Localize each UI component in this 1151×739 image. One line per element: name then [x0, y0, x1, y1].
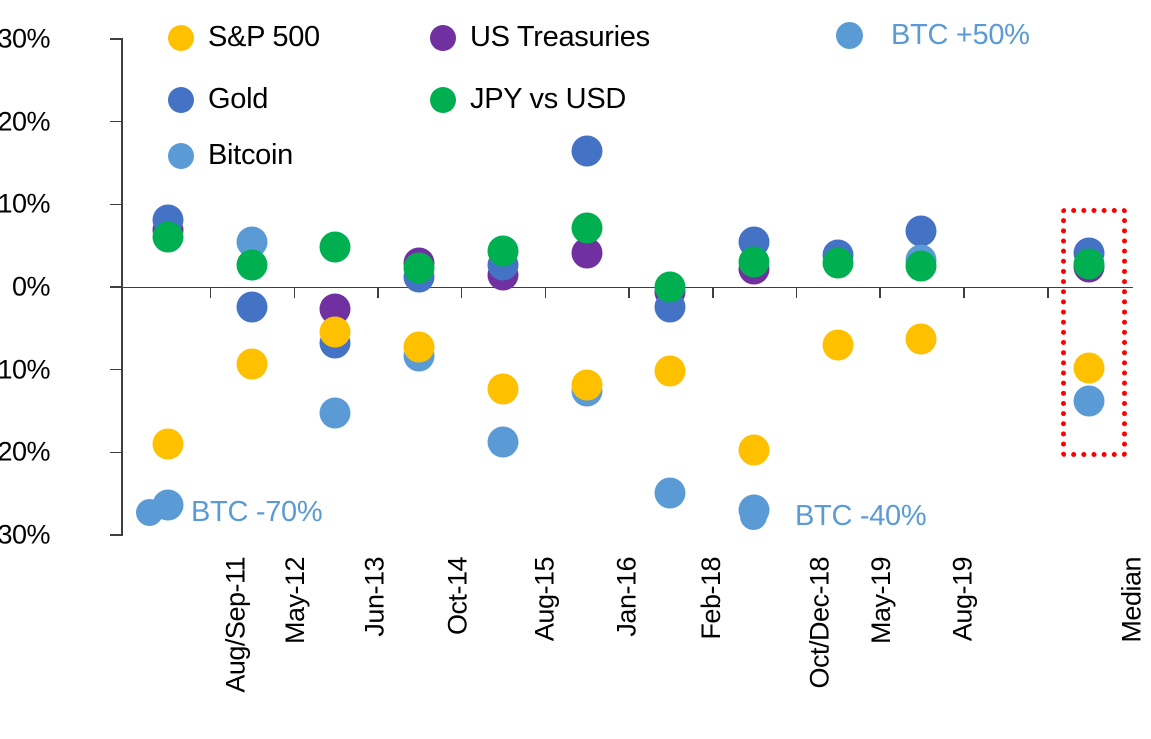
legend-label: S&P 500: [208, 21, 320, 54]
legend-marker-dot: [168, 87, 194, 113]
data-point: [906, 251, 937, 282]
legend-label: Bitcoin: [208, 139, 293, 172]
legend-marker-dot: [168, 25, 194, 51]
y-axis-tick: [110, 534, 121, 536]
x-axis-tick: [461, 287, 463, 298]
x-axis-category-label-text: Aug-15: [529, 557, 560, 641]
y-axis-tick-label: -30%: [0, 520, 50, 551]
x-axis-category-label-text: May-12: [280, 557, 311, 644]
data-point: [404, 252, 435, 283]
data-point: [571, 370, 602, 401]
btc-down-40-label: BTC -40%: [795, 500, 926, 533]
x-axis-tick: [628, 287, 630, 298]
x-axis-tick: [377, 287, 379, 298]
btc-up-50-label: BTC +50%: [891, 19, 1030, 52]
data-point: [655, 477, 686, 508]
legend-label: Gold: [208, 83, 268, 116]
x-axis-category-label: Aug/Sep-11: [236, 421, 267, 557]
y-axis-tick-label: 0%: [12, 272, 50, 303]
data-point: [320, 397, 351, 428]
data-point: [1074, 386, 1105, 417]
data-point: [571, 213, 602, 244]
data-point: [320, 232, 351, 263]
x-axis-tick: [294, 287, 296, 298]
data-point: [906, 215, 937, 246]
x-axis-category-label-text: Jun-13: [360, 557, 391, 637]
x-axis-category-label-text: Oct-14: [443, 557, 474, 635]
x-axis-category-label-text: Aug/Sep-11: [220, 557, 251, 693]
y-axis-tick-label: -20%: [0, 437, 50, 468]
x-axis-tick: [210, 287, 212, 298]
data-point: [153, 222, 184, 253]
y-axis-tick: [110, 121, 121, 123]
data-point: [487, 235, 518, 266]
data-point: [1074, 353, 1105, 384]
x-axis-tick: [545, 287, 547, 298]
x-axis-category-label: Oct/Dec-18: [820, 425, 851, 557]
data-point: [320, 317, 351, 348]
btc-down-70-label: BTC -70%: [191, 496, 322, 529]
x-axis-category-label: Aug-19: [963, 473, 994, 557]
legend-item-bitcoin[interactable]: Bitcoin: [168, 139, 293, 172]
data-point: [236, 250, 267, 281]
x-axis-tick: [796, 287, 798, 298]
y-axis-tick-label: 10%: [0, 189, 50, 220]
x-axis-category-label: Oct-14: [458, 479, 489, 557]
y-axis-tick: [110, 452, 121, 454]
x-axis-category-label-text: Jan-16: [611, 557, 642, 637]
x-axis-tick: [963, 287, 965, 298]
x-axis-category-label-text: Oct/Dec-18: [804, 557, 835, 689]
data-point: [738, 247, 769, 278]
data-point: [822, 329, 853, 360]
x-axis-tick: [879, 287, 881, 298]
data-point: [655, 272, 686, 303]
y-axis-tick-label: -10%: [0, 354, 50, 385]
x-axis-tick: [1047, 287, 1049, 298]
x-axis-category-label-text: Median: [1116, 557, 1147, 643]
y-axis-tick: [110, 38, 121, 40]
data-point: [236, 291, 267, 322]
x-axis-category-label: Feb-18: [711, 474, 742, 557]
data-point: [404, 331, 435, 362]
data-point: [738, 495, 769, 526]
y-axis-tick: [110, 286, 121, 288]
legend-marker-dot: [430, 25, 456, 51]
data-point: [571, 135, 602, 166]
y-axis-tick: [110, 369, 121, 371]
btc-up-50-dot: [836, 22, 863, 49]
x-axis-tick: [712, 287, 714, 298]
data-point: [822, 248, 853, 279]
chart-canvas: 30%20%10%0%-10%-20%-30% Aug/Sep-11May-12…: [0, 0, 1151, 739]
legend-item-s-p-500[interactable]: S&P 500: [168, 21, 320, 54]
legend-item-us-treasuries[interactable]: US Treasuries: [430, 21, 650, 54]
x-axis-category-label: Jun-13: [375, 477, 406, 557]
x-axis-zero-line: [121, 287, 1133, 289]
y-axis-tick-label: 30%: [0, 23, 50, 54]
x-axis-category-label: Aug-15: [545, 473, 576, 557]
x-axis-category-label: Jan-16: [626, 477, 657, 557]
legend-item-jpy-vs-usd[interactable]: JPY vs USD: [430, 83, 626, 116]
legend-item-gold[interactable]: Gold: [168, 83, 268, 116]
data-point: [655, 356, 686, 387]
legend-label: US Treasuries: [470, 21, 650, 54]
x-axis-category-label-text: Aug-19: [948, 557, 979, 641]
data-point: [153, 490, 184, 521]
data-point: [1074, 248, 1105, 279]
y-axis-tick: [110, 204, 121, 206]
data-point: [906, 324, 937, 355]
annotation-btc-up-50: BTC +50%: [836, 19, 1030, 52]
legend-marker-dot: [430, 87, 456, 113]
data-point: [236, 348, 267, 379]
data-point: [153, 429, 184, 460]
x-axis-category-label: Median: [1132, 471, 1151, 557]
y-axis-tick-label: 20%: [0, 106, 50, 137]
data-point: [487, 373, 518, 404]
data-point: [738, 434, 769, 465]
legend-label: JPY vs USD: [470, 83, 626, 116]
data-point: [487, 426, 518, 457]
x-axis-category-label-text: Feb-18: [696, 557, 727, 640]
x-axis-category-label-text: May-19: [866, 557, 897, 644]
legend-marker-dot: [168, 143, 194, 169]
